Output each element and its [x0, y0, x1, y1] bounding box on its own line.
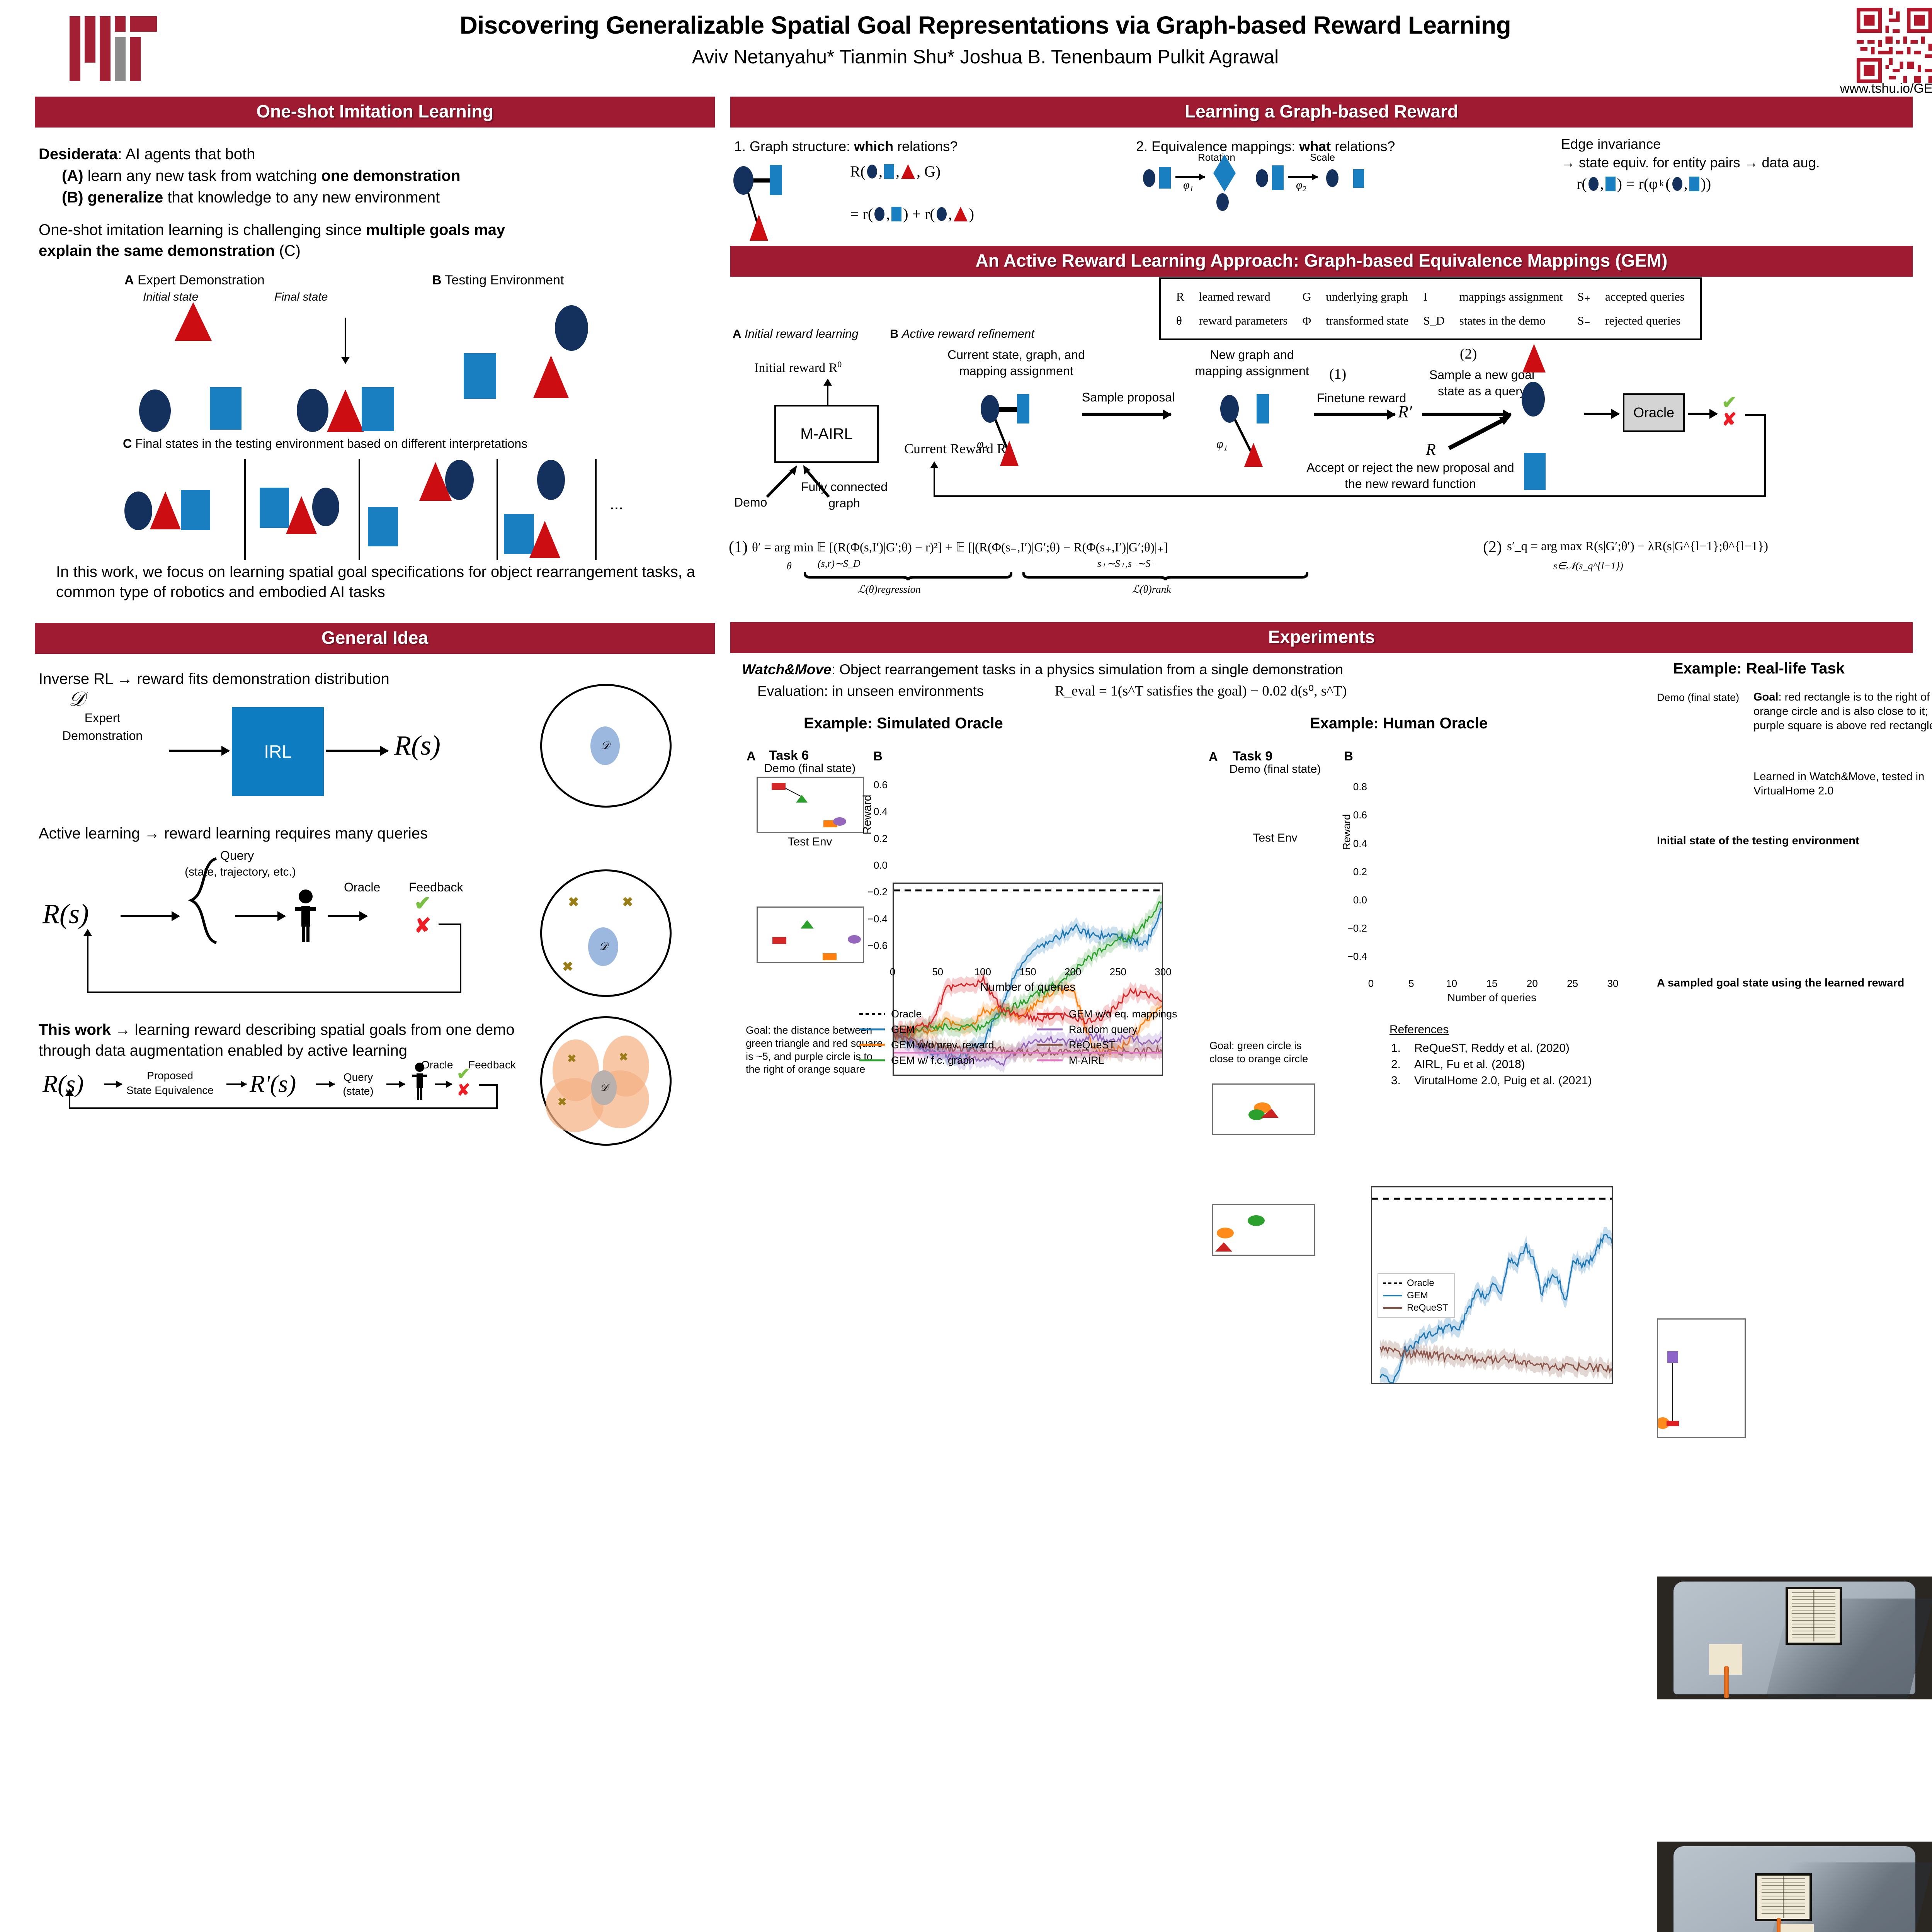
demo-distribution-ellipse: 𝒟 [590, 726, 620, 765]
legend-label: Oracle [891, 1008, 922, 1020]
real-demo-panel [1657, 1318, 1746, 1438]
this-work-rest: → learning reward describing spatial goa… [111, 1021, 515, 1038]
sim-test-title: Test Env [752, 835, 868, 849]
item-a-tag: (A) [62, 167, 83, 184]
comma: , [948, 205, 952, 223]
regression-brace [804, 571, 1012, 581]
q2-rest: relations? [1331, 138, 1395, 154]
demo-distribution-ellipse: 𝒟 [591, 1070, 617, 1105]
phi-glyph: φ [1183, 179, 1190, 191]
legend-swatch-mairl [1036, 1058, 1063, 1063]
legend-label: Oracle [1407, 1278, 1434, 1289]
r-prime-symbol: R′ [1398, 402, 1412, 422]
item-b-bold: generalize [83, 189, 163, 206]
demonstration-label: Demonstration [43, 729, 162, 743]
reject-cross-icon: ✘ [1722, 410, 1737, 428]
notation-table: R learned reward G underlying graph I ma… [1159, 277, 1702, 340]
demo-label: Demo [734, 495, 767, 510]
legend-item: M-AIRL [1036, 1053, 1214, 1068]
shape-navy-circle [1326, 169, 1338, 187]
item-b-text: that knowledge to any new environment [163, 189, 440, 206]
notation-table-body: R learned reward G underlying graph I ma… [1168, 284, 1692, 333]
y-tick-label: 0.4 [1343, 838, 1367, 850]
human-chart-y-axis: −0.4−0.20.00.20.40.60.8 [1346, 776, 1370, 974]
sim-chart-legend: Oracle GEM GEM w/o prev. reward GEM w/ f… [859, 1006, 1237, 1068]
feedback-loop-arrow [934, 462, 935, 495]
section-header-graph-reward: Learning a Graph-based Reward [730, 97, 1913, 128]
notation-meaning: reward parameters [1192, 309, 1295, 332]
references-list: 1.ReQueST, Reddy et al. (2020) 2.AIRL, F… [1391, 1040, 1592, 1089]
real-sampled-photo [1657, 1842, 1932, 1932]
panel-b-title: Testing Environment [445, 273, 564, 287]
final-state-label: Final state [274, 291, 328, 304]
shape-red-triangle [529, 521, 560, 558]
shape-red-triangle [175, 302, 212, 341]
sim-demo-title: Demo (final state) [752, 762, 868, 775]
shape-navy-circle [297, 389, 328, 432]
section-header-experiments: Experiments [730, 622, 1913, 653]
feedback-loop-arrow [69, 1090, 70, 1108]
shape-navy-circle [1143, 169, 1155, 187]
x-tick-label: 300 [1151, 966, 1175, 978]
arrow-from-irl [326, 750, 388, 752]
query-x-marker: ✖ [622, 896, 633, 909]
x-tick-label: 250 [1106, 966, 1129, 978]
equation-1-subscript-2: s₊∼S₊,s₋∼S₋ [1097, 558, 1156, 570]
reference-text: ReQueST, Reddy et al. (2020) [1414, 1042, 1570, 1054]
phi-subscript: 1 [1190, 185, 1194, 193]
list-item: 1.ReQueST, Reddy et al. (2020) [1391, 1040, 1592, 1056]
notation-meaning: mappings assignment [1452, 285, 1570, 308]
graph-structure-diagram [730, 156, 827, 249]
gem-panel-b-label: B Active reward refinement [890, 327, 1034, 341]
book-lines [1792, 1592, 1835, 1639]
feedback-loop-line [479, 1084, 498, 1086]
shape-blue-rect [1353, 169, 1364, 188]
legend-label: Random query [1069, 1024, 1137, 1036]
legend-label: M-AIRL [1069, 1054, 1104, 1066]
arrow-to-query [316, 1083, 335, 1085]
phi1-arrow [1175, 176, 1205, 178]
edge-invariance-line1: Edge invariance [1561, 136, 1661, 152]
section-header-gem: An Active Reward Learning Approach: Grap… [730, 246, 1913, 277]
shape-red-triangle [150, 492, 181, 529]
shape-blue-rect [1689, 177, 1699, 191]
feedback-loop-line [1745, 414, 1766, 416]
page-title: Discovering Generalizable Spatial Goal R… [294, 11, 1677, 39]
legend-item: Random query [1036, 1022, 1214, 1037]
shape-red-triangle [286, 496, 317, 534]
reward-function-label: R(s) [43, 1070, 84, 1098]
legend-item: Oracle [1382, 1277, 1450, 1289]
table-row: R learned reward G underlying graph I ma… [1169, 285, 1692, 308]
arrow-to-oracle [235, 915, 285, 917]
y-tick-label: −0.6 [864, 940, 888, 952]
r-diagonal-arrow [1445, 410, 1515, 452]
r-open: r( [1577, 175, 1587, 193]
query-x-marker: ✖ [567, 1053, 576, 1064]
shape-navy-circle [937, 207, 947, 221]
legend-item: GEM w/o eq. mappings [1036, 1006, 1214, 1022]
shape-navy-circle [1522, 382, 1545, 417]
rotation-label: Rotation [1198, 151, 1235, 163]
legend-swatch-oracle [859, 1012, 886, 1016]
shape-navy-circle [867, 165, 877, 179]
pen-object [1777, 1918, 1781, 1932]
real-learned-text: Learned in Watch&Move, tested in Virtual… [1753, 770, 1932, 798]
shape-navy-circle [1672, 177, 1682, 191]
example-human-title: Example: Human Oracle [1310, 715, 1488, 732]
challenge-part2: (C) [275, 242, 301, 259]
comma: , [886, 205, 890, 223]
legend-swatch-request [1382, 1306, 1403, 1310]
arrow-to-oracle [1584, 413, 1619, 415]
notation-symbol: R [1169, 285, 1191, 308]
fully-connected-line1: Fully connected [784, 480, 904, 494]
panel-c-title: Final states in the testing environment … [135, 437, 527, 451]
human-goal-line-1: Goal: green circle is [1209, 1040, 1302, 1051]
arrow-to-query [121, 915, 179, 917]
x-tick-label: 20 [1520, 978, 1544, 990]
panel-b-label: B Testing Environment [432, 273, 564, 288]
finetune-arrow [1314, 413, 1395, 416]
challenge-bold2: explain the same demonstration [39, 242, 275, 259]
q1-rest: relations? [893, 138, 957, 154]
y-tick-label: 0.6 [1343, 809, 1367, 821]
challenge-bold1: multiple goals may [366, 221, 505, 238]
rank-brace [1022, 571, 1308, 581]
x-tick-label: 0 [881, 966, 904, 978]
human-task-title: Task 9 [1233, 749, 1272, 764]
initial-reward-label: Initial reward R0 [754, 359, 842, 375]
example-real-title: Example: Real-life Task [1673, 660, 1845, 677]
shape-blue-rect [368, 507, 398, 546]
human-oracle-icon [409, 1062, 430, 1100]
gem-a-title: Initial reward learning [745, 327, 859, 340]
x-tick-label: 0 [1359, 978, 1383, 990]
arrow-to-irl [169, 750, 229, 752]
feedback-loop-arrow [87, 930, 88, 992]
shape-navy-circle [555, 305, 588, 351]
shape-red-triangle [327, 389, 364, 432]
query-x-marker: ✖ [619, 1052, 628, 1063]
close-parens: )) [1701, 175, 1711, 193]
legend-swatch-random [1036, 1027, 1063, 1032]
D-glyph: 𝒟 [600, 1082, 608, 1094]
section-header-general-idea: General Idea [35, 623, 715, 654]
equation-2-subscript: s∈𝒩(s_q^{l−1}) [1553, 560, 1623, 572]
phi1-label: φ₁ [1216, 437, 1228, 451]
arrow-to-feedback [1688, 413, 1717, 415]
desiderata-label: Desiderata [39, 146, 118, 163]
phi2-arrow [1288, 176, 1318, 178]
legend-label: GEM [1407, 1290, 1428, 1301]
feedback-loop-line [934, 495, 1766, 497]
notation-meaning: transformed state [1319, 309, 1415, 332]
D-glyph: 𝒟 [601, 740, 609, 752]
graph-structure-question: 1. Graph structure: which relations? [734, 138, 957, 155]
notation-symbol: G [1295, 285, 1318, 308]
notation-symbol: S₊ [1570, 285, 1597, 308]
accept-reject-line1: Accept or reject the new proposal and [1287, 461, 1534, 475]
human-oracle-chart[interactable]: Oracle GEM ReQueST [1371, 1186, 1613, 1384]
comma: , [1600, 175, 1604, 193]
finetune-reward-label: Finetune reward [1317, 391, 1406, 405]
query-x-marker: ✖ [558, 1097, 566, 1107]
reward-function-label: R(s) [394, 730, 440, 762]
q1-part1: 1. Graph structure: [734, 138, 854, 154]
new-graph-line1: New graph and [1175, 348, 1329, 362]
shape-navy-circle [124, 492, 152, 530]
real-demo-title: Demo (final state) [1657, 692, 1739, 704]
close-paren: ) [969, 205, 974, 223]
human-panel-b-tag: B [1344, 749, 1353, 764]
edge-invariance-equation: r( , ) = r(φk ( , )) [1577, 175, 1711, 193]
shape-navy-circle [139, 389, 171, 432]
equivalence-question: 2. Equivalence mappings: what relations? [1136, 138, 1395, 155]
inner-open: ( [1665, 175, 1670, 193]
book-lines [1762, 1878, 1805, 1917]
desiderata-item-a: (A) learn any new task from watching one… [62, 165, 726, 186]
divider [244, 459, 246, 560]
watchmove-line: Watch&Move: Object rearrangement tasks i… [742, 662, 1343, 678]
expert-label: Expert [50, 711, 155, 725]
reject-cross-icon: ✘ [414, 916, 431, 936]
x-tick-label: 25 [1561, 978, 1584, 990]
arrow-to-rprime [226, 1083, 247, 1085]
feedback-loop-line [1764, 414, 1766, 496]
watchmove-rest: : Object rearrangement tasks in a physic… [832, 662, 1343, 677]
equals-rphi: ) = r(φ [1617, 175, 1658, 193]
real-initial-caption: Initial state of the testing environment [1657, 835, 1859, 847]
equation-2: s′_q = arg max R(s|G′;θ′) − λR(s|G^{l−1}… [1507, 539, 1768, 554]
real-goal-text: Goal: red rectangle is to the right of o… [1753, 690, 1932, 733]
legend-label: GEM w/o prev. reward [891, 1039, 994, 1051]
shape-blue-rect [362, 387, 394, 431]
demo-distribution-ellipse: 𝒟 [588, 927, 618, 966]
sim-goal-line-3: is ~5, and purple circle is to [746, 1051, 872, 1062]
gem-b-tag: B [890, 327, 898, 340]
phi-subscript: 2 [1303, 185, 1306, 193]
shape-blue-rect [210, 387, 241, 430]
challenge-part1: One-shot imitation learning is challengi… [39, 221, 366, 238]
comma: , [1684, 175, 1688, 193]
shape-navy-circle [312, 488, 339, 526]
legend-swatch-gem [859, 1027, 886, 1032]
phi-glyph: φ [1296, 179, 1303, 191]
watchmove-bold: Watch&Move [742, 662, 832, 677]
item-a-text: learn any new task from watching [83, 167, 321, 184]
initial-state-label: Initial state [143, 291, 198, 304]
y-tick-label: −0.2 [1343, 922, 1367, 934]
legend-label: ReQueST [1407, 1303, 1448, 1313]
sim-test-panel [757, 906, 864, 963]
curly-brace-icon [182, 855, 228, 947]
table-row: θ reward parameters Φ transformed state … [1169, 309, 1692, 332]
list-item: 3.VirutalHome 2.0, Puig et al. (2021) [1391, 1073, 1592, 1089]
notation-meaning: underlying graph [1319, 285, 1415, 308]
divider [595, 459, 597, 560]
project-url[interactable]: www.tshu.io/GEM [1816, 81, 1932, 96]
x-tick-label: 50 [926, 966, 949, 978]
human-panel-a-tag: A [1209, 750, 1218, 764]
equation-1-number: (1) [729, 538, 748, 556]
shape-navy-circle [445, 460, 474, 500]
divider [359, 459, 360, 560]
shape-blue-rect [884, 164, 894, 179]
panel-a-label: A Expert Demonstration [124, 273, 265, 288]
current-state-line2: mapping assignment [927, 364, 1105, 378]
real-sampled-caption: A sampled goal state using the learned r… [1657, 977, 1904, 990]
feedback-loop-line [69, 1107, 498, 1109]
legend-swatch-gem-wo-prev [859, 1043, 886, 1047]
feedback-loop-line [439, 923, 461, 925]
human-chart-x-axis: 051015202530 [1371, 976, 1613, 992]
r-symbol: R [1426, 440, 1436, 459]
sim-goal-line-4: the right of orange square [746, 1063, 865, 1075]
k-subscript: k [1659, 179, 1664, 189]
legend-label: GEM w/o eq. mappings [1069, 1008, 1177, 1020]
notation-symbol: S₋ [1570, 309, 1597, 332]
item-a-bold: one demonstration [321, 167, 460, 184]
legend-item: GEM w/o prev. reward [859, 1037, 1036, 1053]
human-demo-title: Demo (final state) [1213, 763, 1337, 776]
shape-blue-rect [181, 490, 210, 530]
sim-panel-a-tag: A [747, 749, 756, 764]
legend-item: Oracle [859, 1006, 1036, 1022]
human-test-title: Test Env [1213, 832, 1337, 845]
example-simulated-title: Example: Simulated Oracle [804, 715, 1003, 732]
eval-formula: R_eval = 1(s^T satisfies the goal) − 0.0… [1055, 682, 1347, 699]
notation-meaning: rejected queries [1598, 309, 1692, 332]
real-goal-rest: : red rectangle is to the right of orang… [1753, 691, 1932, 732]
section-header-one-shot: One-shot Imitation Learning [35, 97, 715, 128]
desiderata-line: Desiderata: AI agents that both [39, 144, 719, 165]
plus-r: ) + r( [903, 205, 935, 223]
gem-panel-a-label: A Initial reward learning [733, 327, 859, 341]
y-tick-label: 0.6 [864, 779, 888, 791]
calD-symbol: 𝒟 [69, 688, 85, 711]
reference-text: VirutalHome 2.0, Puig et al. (2021) [1414, 1074, 1592, 1087]
reward-decomposition-bottom: = r( , ) + r( , ) [850, 205, 974, 223]
human-oracle-icon [290, 889, 321, 943]
notation-symbol: θ [1169, 309, 1191, 332]
sample-proposal-label: Sample proposal [1082, 390, 1175, 405]
x-tick-label: 200 [1061, 966, 1085, 978]
ellipsis-label: ... [610, 495, 623, 513]
sim-demo-panel [757, 777, 864, 833]
legend-swatch-oracle [1382, 1281, 1403, 1285]
irl-box: IRL [232, 707, 324, 796]
mairl-box: M-AIRL [774, 405, 879, 463]
equation-1-subscript-1: (s,r)∼S_D [818, 558, 861, 570]
arrow-to-oracle [386, 1083, 405, 1085]
gem-b-title: Active reward refinement [902, 327, 1034, 340]
author-list: Aviv Netanyahu* Tianmin Shu* Joshua B. T… [294, 46, 1677, 68]
current-graph-diagram [978, 386, 1063, 475]
evaluation-line: Evaluation: in unseen environments [757, 683, 984, 699]
feedback-label: Feedback [468, 1059, 516, 1071]
notation-symbol: Φ [1295, 309, 1318, 332]
proposed-label: Proposed [124, 1070, 216, 1082]
loss-regression-label: ℒ(θ)regression [858, 583, 921, 595]
notation-meaning: learned reward [1192, 285, 1295, 308]
human-chart-legend: Oracle GEM ReQueST [1378, 1273, 1455, 1318]
y-tick-label: 0.2 [1343, 866, 1367, 878]
feedback-loop-line [87, 992, 461, 993]
sim-goal-line-1: Goal: the distance between [746, 1024, 872, 1036]
shape-navy-circle [1588, 177, 1599, 191]
gem-a-tag: A [733, 327, 741, 340]
phi2-label: φ2 [1296, 179, 1306, 194]
accept-check-icon: ✔ [414, 893, 431, 913]
desiderata-rest: : AI agents that both [118, 146, 255, 163]
pen-object [1724, 1666, 1728, 1698]
sim-task-title: Task 6 [769, 748, 809, 763]
R-open: R( [850, 162, 866, 180]
loss-rank-label: ℒ(θ)rank [1132, 583, 1171, 595]
human-goal-line-2: close to orange circle [1209, 1053, 1308, 1065]
new-graph-line2: mapping assignment [1175, 364, 1329, 378]
accept-check-icon: ✔ [457, 1066, 470, 1082]
down-arrow-icon [345, 318, 346, 363]
shape-navy-circle [1256, 169, 1268, 187]
human-demo-panel [1212, 1083, 1315, 1135]
edge-invariance-line2: → state equiv. for entity pairs → data a… [1561, 155, 1820, 171]
eq-r: = r( [850, 205, 873, 223]
equation-1-subscript-theta: θ [787, 560, 792, 572]
x-tick-label: 5 [1400, 978, 1423, 990]
y-tick-label: 0.0 [1343, 894, 1367, 906]
notation-meaning: accepted queries [1598, 285, 1692, 308]
legend-label: GEM [891, 1024, 915, 1036]
legend-label: GEM w/ f.c. graph [891, 1054, 975, 1066]
panel-a-tag: A [124, 273, 134, 287]
shape-blue-rect [891, 207, 901, 221]
y-tick-label: 0.4 [864, 806, 888, 818]
notation-symbol: S_D [1416, 309, 1451, 332]
notation-symbol: I [1416, 285, 1451, 308]
book-object [1786, 1588, 1841, 1644]
query2-sublabel: (state) [333, 1085, 383, 1097]
arrow-to-feedback [328, 915, 367, 917]
book-object [1756, 1874, 1811, 1920]
y-tick-label: −0.2 [864, 886, 888, 898]
arrow-to-feedback [435, 1083, 452, 1085]
step-2-label: (2) [1460, 345, 1477, 362]
sim-chart-xlabel: Number of queries [893, 981, 1163, 994]
equation-2-number: (2) [1483, 538, 1502, 556]
challenge-text: One-shot imitation learning is challengi… [39, 219, 726, 261]
shape-red-triangle [901, 164, 915, 179]
reward-function-label: R(s) [43, 898, 89, 930]
shape-red-triangle [954, 207, 968, 221]
human-goal-text: Goal: green circle is close to orange ci… [1209, 1039, 1308, 1066]
references-title: References [1389, 1023, 1449, 1036]
shape-red-triangle [1522, 344, 1546, 372]
y-tick-label: 0.2 [864, 833, 888, 845]
this-work-line2: through data augmentation enabled by act… [39, 1042, 407, 1059]
this-work-bold: This work [39, 1021, 111, 1038]
oracle-label: Oracle [344, 880, 380, 895]
sim-chart-x-axis: 050100150200250300 [893, 964, 1163, 980]
legend-item: GEM w/ f.c. graph [859, 1053, 1036, 1068]
state-equivalence-label: State Equivalence [118, 1084, 222, 1097]
divider [497, 459, 498, 560]
shape-red-triangle [533, 355, 569, 398]
legend-item: GEM [1382, 1289, 1450, 1302]
superscript-0: 0 [837, 359, 842, 369]
